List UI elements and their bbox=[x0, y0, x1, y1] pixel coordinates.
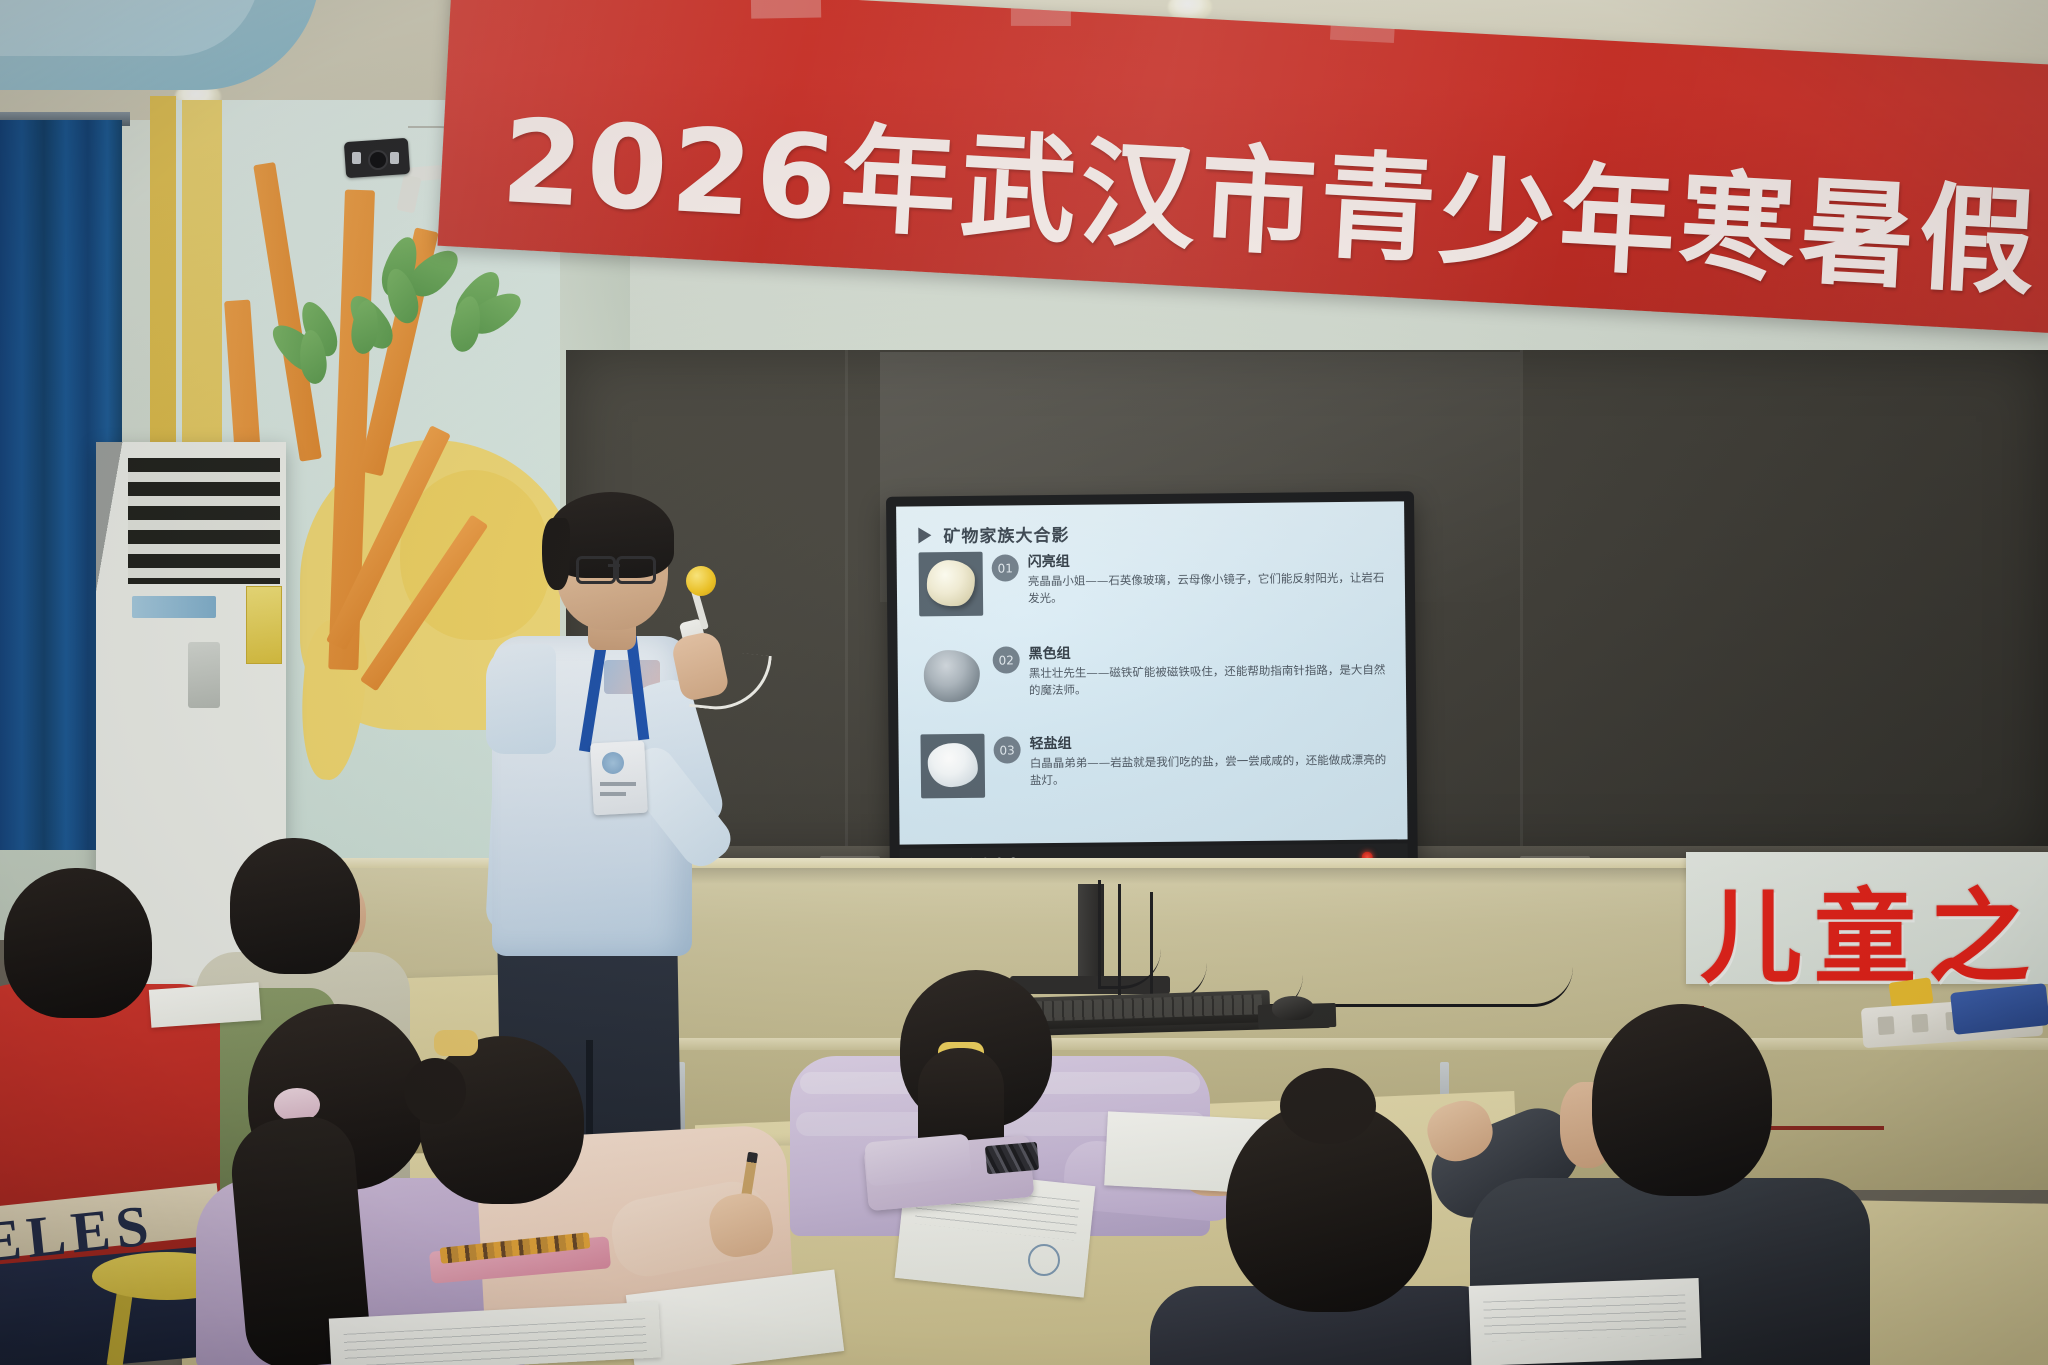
slide-item: 01 闪亮组 亮晶晶小姐——石英像玻璃，云母像小镜子，它们能反射阳光，让岩石发光… bbox=[919, 548, 1388, 617]
item-title: 轻盐组 bbox=[1029, 730, 1388, 754]
student-dark-hair-center-bun bbox=[1280, 1068, 1376, 1144]
ac-display-panel[interactable] bbox=[188, 642, 220, 708]
teacher-shoulder bbox=[486, 644, 556, 754]
mineral-photo-magnetite bbox=[920, 644, 985, 709]
power-socket[interactable] bbox=[1911, 1014, 1928, 1033]
slide-title: 矿物家族大合影 bbox=[943, 521, 1069, 547]
glasses-icon bbox=[576, 556, 616, 584]
mineral-photo-quartz bbox=[919, 552, 984, 617]
camera-ir-led bbox=[352, 152, 361, 164]
interactive-smartboard[interactable]: 矿物家族大合影 01 闪亮组 亮晶晶小姐——石英像玻璃，云母像小镜子，它们能反射… bbox=[886, 491, 1418, 887]
wall-sign-text: 儿童之 bbox=[1700, 856, 2048, 1003]
blackboard-seam bbox=[845, 350, 848, 860]
item-description: 黑壮壮先生——磁铁矿能被磁铁吸住，还能帮助指南针指路，是大自然的魔法师。 bbox=[1029, 662, 1388, 699]
badge-logo-icon bbox=[602, 752, 624, 774]
id-badge bbox=[590, 741, 648, 816]
slide-item: 02 黑色组 黑壮壮先生——磁铁矿能被磁铁吸住，还能帮助指南针指路，是大自然的魔… bbox=[920, 640, 1389, 709]
play-triangle-icon bbox=[918, 527, 931, 543]
student-peach-sweater-bun bbox=[404, 1058, 466, 1124]
blackboard-seam bbox=[1520, 350, 1523, 860]
microphone-windscreen-icon bbox=[686, 566, 716, 596]
ac-energy-label bbox=[246, 586, 282, 664]
badge-text-line bbox=[600, 792, 626, 796]
pens-in-case bbox=[985, 1142, 1039, 1174]
worksheet bbox=[1469, 1278, 1702, 1365]
item-number-badge: 02 bbox=[993, 646, 1020, 673]
badge-text-line bbox=[600, 782, 636, 786]
student-red-jacket-head bbox=[4, 868, 152, 1018]
glasses-bridge bbox=[608, 564, 620, 567]
slide-item: 03 轻盐组 白晶晶弟弟——岩盐就是我们吃的盐，尝一尝咸咸的，还能做成漂亮的盐灯… bbox=[920, 730, 1389, 799]
item-title: 闪亮组 bbox=[1028, 548, 1387, 572]
banner-tape bbox=[751, 0, 821, 19]
mouse[interactable] bbox=[1272, 996, 1314, 1020]
hair-tie bbox=[434, 1030, 478, 1056]
classroom-photo: 2026年武汉市青少年寒暑假“爱心托管班” 矿物家族大合影 01 闪亮组 亮晶晶… bbox=[0, 0, 2048, 1365]
mineral-photo-halite bbox=[920, 734, 985, 799]
power-socket[interactable] bbox=[1877, 1016, 1894, 1035]
camera-ir-led bbox=[390, 152, 399, 164]
camera-lens-icon bbox=[368, 150, 388, 170]
student-khaki-vest-head bbox=[230, 838, 360, 974]
smartboard-screen[interactable]: 矿物家族大合影 01 闪亮组 亮晶晶小姐——石英像玻璃，云母像小镜子，它们能反射… bbox=[896, 501, 1408, 844]
item-number-badge: 01 bbox=[992, 554, 1019, 581]
pencil-case-lid[interactable] bbox=[864, 1134, 971, 1187]
item-number-badge: 03 bbox=[993, 736, 1020, 763]
ac-brand-label bbox=[132, 596, 216, 618]
worksheet-stamp-icon bbox=[1028, 1244, 1060, 1276]
worksheet bbox=[149, 982, 261, 1028]
cable bbox=[1250, 918, 1573, 1007]
slide-header: 矿物家族大合影 bbox=[918, 521, 1069, 548]
student-dark-jacket-head bbox=[1592, 1004, 1772, 1196]
teacher-hair-side bbox=[542, 518, 570, 590]
item-description: 亮晶晶小姐——石英像玻璃，云母像小镜子，它们能反射阳光，让岩石发光。 bbox=[1028, 570, 1387, 607]
glasses-icon bbox=[616, 556, 656, 584]
item-description: 白晶晶弟弟——岩盐就是我们吃的盐，尝一尝咸咸的，还能做成漂亮的盐灯。 bbox=[1030, 752, 1389, 789]
item-title: 黑色组 bbox=[1029, 640, 1388, 664]
ac-vent-grille bbox=[128, 458, 280, 584]
